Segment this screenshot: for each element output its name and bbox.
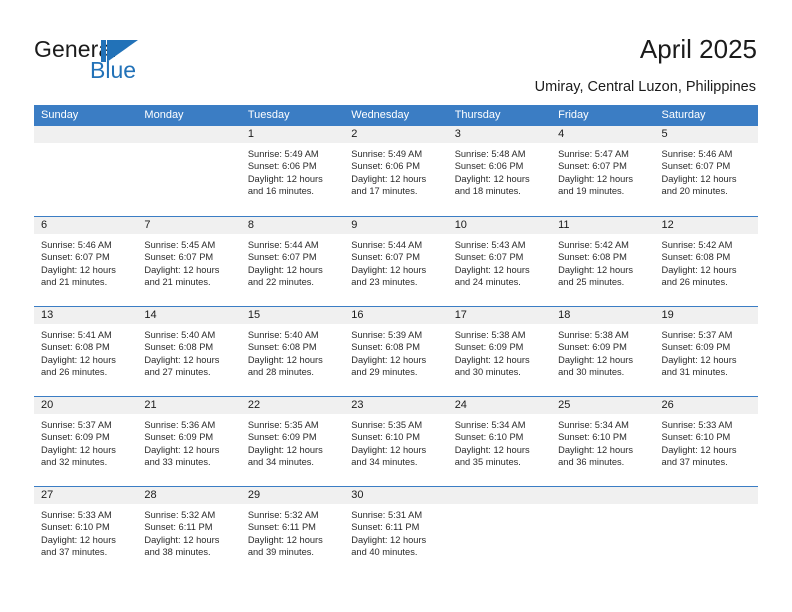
sunrise-text: Sunrise: 5:40 AM xyxy=(144,329,234,341)
calendar-day-cell[interactable]: 4Sunrise: 5:47 AMSunset: 6:07 PMDaylight… xyxy=(551,126,654,216)
calendar-day-cell[interactable]: 8Sunrise: 5:44 AMSunset: 6:07 PMDaylight… xyxy=(241,217,344,306)
daylight-text-line1: Daylight: 12 hours xyxy=(248,444,338,456)
daylight-text-line2: and 21 minutes. xyxy=(41,276,131,288)
sunset-text: Sunset: 6:08 PM xyxy=(248,341,338,353)
day-number: 2 xyxy=(344,126,447,143)
sunset-text: Sunset: 6:11 PM xyxy=(351,521,441,533)
daylight-text-line1: Daylight: 12 hours xyxy=(144,354,234,366)
day-number xyxy=(655,487,758,504)
logo-text-blue: Blue xyxy=(90,57,136,83)
weekday-header-friday: Friday xyxy=(551,105,654,126)
calendar-day-cell[interactable]: 12Sunrise: 5:42 AMSunset: 6:08 PMDayligh… xyxy=(655,217,758,306)
day-number: 12 xyxy=(655,217,758,234)
sunrise-text: Sunrise: 5:39 AM xyxy=(351,329,441,341)
daylight-text-line1: Daylight: 12 hours xyxy=(662,173,752,185)
daylight-text-line1: Daylight: 12 hours xyxy=(351,264,441,276)
calendar-day-cell[interactable]: 23Sunrise: 5:35 AMSunset: 6:10 PMDayligh… xyxy=(344,397,447,486)
calendar-week-row: 13Sunrise: 5:41 AMSunset: 6:08 PMDayligh… xyxy=(34,306,758,396)
calendar-day-cell[interactable]: 13Sunrise: 5:41 AMSunset: 6:08 PMDayligh… xyxy=(34,307,137,396)
sunset-text: Sunset: 6:11 PM xyxy=(144,521,234,533)
day-number: 29 xyxy=(241,487,344,504)
day-sun-info: Sunrise: 5:40 AMSunset: 6:08 PMDaylight:… xyxy=(241,324,344,379)
daylight-text-line2: and 26 minutes. xyxy=(41,366,131,378)
daylight-text-line1: Daylight: 12 hours xyxy=(41,264,131,276)
calendar-day-cell-empty xyxy=(34,126,137,216)
daylight-text-line1: Daylight: 12 hours xyxy=(144,534,234,546)
sunset-text: Sunset: 6:10 PM xyxy=(558,431,648,443)
daylight-text-line2: and 24 minutes. xyxy=(455,276,545,288)
daylight-text-line2: and 21 minutes. xyxy=(144,276,234,288)
calendar-week-row: 1Sunrise: 5:49 AMSunset: 6:06 PMDaylight… xyxy=(34,126,758,216)
day-number: 4 xyxy=(551,126,654,143)
day-sun-info: Sunrise: 5:34 AMSunset: 6:10 PMDaylight:… xyxy=(551,414,654,469)
day-sun-info: Sunrise: 5:32 AMSunset: 6:11 PMDaylight:… xyxy=(241,504,344,559)
sunset-text: Sunset: 6:07 PM xyxy=(351,251,441,263)
day-number: 18 xyxy=(551,307,654,324)
day-sun-info: Sunrise: 5:33 AMSunset: 6:10 PMDaylight:… xyxy=(655,414,758,469)
day-sun-info: Sunrise: 5:34 AMSunset: 6:10 PMDaylight:… xyxy=(448,414,551,469)
sunrise-text: Sunrise: 5:49 AM xyxy=(248,148,338,160)
sunset-text: Sunset: 6:06 PM xyxy=(455,160,545,172)
page-title: April 2025 xyxy=(640,34,757,64)
calendar-day-cell[interactable]: 9Sunrise: 5:44 AMSunset: 6:07 PMDaylight… xyxy=(344,217,447,306)
day-number: 28 xyxy=(137,487,240,504)
sunset-text: Sunset: 6:09 PM xyxy=(144,431,234,443)
daylight-text-line1: Daylight: 12 hours xyxy=(248,264,338,276)
daylight-text-line2: and 33 minutes. xyxy=(144,456,234,468)
day-sun-info: Sunrise: 5:35 AMSunset: 6:09 PMDaylight:… xyxy=(241,414,344,469)
sunrise-text: Sunrise: 5:46 AM xyxy=(41,239,131,251)
calendar-day-cell[interactable]: 10Sunrise: 5:43 AMSunset: 6:07 PMDayligh… xyxy=(448,217,551,306)
calendar-day-cell[interactable]: 2Sunrise: 5:49 AMSunset: 6:06 PMDaylight… xyxy=(344,126,447,216)
calendar-day-cell[interactable]: 22Sunrise: 5:35 AMSunset: 6:09 PMDayligh… xyxy=(241,397,344,486)
sunrise-text: Sunrise: 5:44 AM xyxy=(351,239,441,251)
day-sun-info: Sunrise: 5:38 AMSunset: 6:09 PMDaylight:… xyxy=(551,324,654,379)
day-number xyxy=(34,126,137,143)
calendar-grid: Sunday Monday Tuesday Wednesday Thursday… xyxy=(34,105,758,576)
daylight-text-line1: Daylight: 12 hours xyxy=(558,264,648,276)
day-sun-info: Sunrise: 5:47 AMSunset: 6:07 PMDaylight:… xyxy=(551,143,654,198)
day-sun-info: Sunrise: 5:37 AMSunset: 6:09 PMDaylight:… xyxy=(34,414,137,469)
weekday-header-monday: Monday xyxy=(137,105,240,126)
sunrise-text: Sunrise: 5:49 AM xyxy=(351,148,441,160)
day-number: 16 xyxy=(344,307,447,324)
daylight-text-line2: and 22 minutes. xyxy=(248,276,338,288)
weekday-header-sunday: Sunday xyxy=(34,105,137,126)
day-number: 13 xyxy=(34,307,137,324)
day-sun-info: Sunrise: 5:43 AMSunset: 6:07 PMDaylight:… xyxy=(448,234,551,289)
day-sun-info: Sunrise: 5:42 AMSunset: 6:08 PMDaylight:… xyxy=(655,234,758,289)
weekday-header-saturday: Saturday xyxy=(655,105,758,126)
weekday-header-row: Sunday Monday Tuesday Wednesday Thursday… xyxy=(34,105,758,126)
sunset-text: Sunset: 6:08 PM xyxy=(351,341,441,353)
daylight-text-line2: and 34 minutes. xyxy=(248,456,338,468)
sunset-text: Sunset: 6:06 PM xyxy=(248,160,338,172)
sunset-text: Sunset: 6:09 PM xyxy=(558,341,648,353)
sunrise-text: Sunrise: 5:37 AM xyxy=(41,419,131,431)
day-number: 5 xyxy=(655,126,758,143)
daylight-text-line2: and 37 minutes. xyxy=(662,456,752,468)
daylight-text-line2: and 36 minutes. xyxy=(558,456,648,468)
sunset-text: Sunset: 6:09 PM xyxy=(248,431,338,443)
sunrise-text: Sunrise: 5:41 AM xyxy=(41,329,131,341)
daylight-text-line2: and 23 minutes. xyxy=(351,276,441,288)
day-sun-info: Sunrise: 5:42 AMSunset: 6:08 PMDaylight:… xyxy=(551,234,654,289)
calendar-day-cell[interactable]: 17Sunrise: 5:38 AMSunset: 6:09 PMDayligh… xyxy=(448,307,551,396)
weekday-header-tuesday: Tuesday xyxy=(241,105,344,126)
weekday-header-thursday: Thursday xyxy=(448,105,551,126)
sunrise-text: Sunrise: 5:32 AM xyxy=(248,509,338,521)
sunrise-text: Sunrise: 5:35 AM xyxy=(248,419,338,431)
calendar-day-cell[interactable]: 7Sunrise: 5:45 AMSunset: 6:07 PMDaylight… xyxy=(137,217,240,306)
sunrise-text: Sunrise: 5:42 AM xyxy=(558,239,648,251)
sunrise-text: Sunrise: 5:47 AM xyxy=(558,148,648,160)
calendar-day-cell[interactable]: 25Sunrise: 5:34 AMSunset: 6:10 PMDayligh… xyxy=(551,397,654,486)
calendar-day-cell[interactable]: 20Sunrise: 5:37 AMSunset: 6:09 PMDayligh… xyxy=(34,397,137,486)
sunset-text: Sunset: 6:08 PM xyxy=(558,251,648,263)
sunset-text: Sunset: 6:07 PM xyxy=(662,160,752,172)
sunrise-text: Sunrise: 5:42 AM xyxy=(662,239,752,251)
calendar-day-cell[interactable]: 24Sunrise: 5:34 AMSunset: 6:10 PMDayligh… xyxy=(448,397,551,486)
day-number xyxy=(551,487,654,504)
daylight-text-line1: Daylight: 12 hours xyxy=(248,534,338,546)
daylight-text-line2: and 31 minutes. xyxy=(662,366,752,378)
day-number: 17 xyxy=(448,307,551,324)
day-sun-info: Sunrise: 5:33 AMSunset: 6:10 PMDaylight:… xyxy=(34,504,137,559)
day-number: 27 xyxy=(34,487,137,504)
calendar-week-row: 20Sunrise: 5:37 AMSunset: 6:09 PMDayligh… xyxy=(34,396,758,486)
daylight-text-line1: Daylight: 12 hours xyxy=(248,173,338,185)
sunrise-text: Sunrise: 5:31 AM xyxy=(351,509,441,521)
calendar-day-cell[interactable]: 19Sunrise: 5:37 AMSunset: 6:09 PMDayligh… xyxy=(655,307,758,396)
day-number: 19 xyxy=(655,307,758,324)
daylight-text-line1: Daylight: 12 hours xyxy=(351,354,441,366)
day-sun-info: Sunrise: 5:49 AMSunset: 6:06 PMDaylight:… xyxy=(241,143,344,198)
daylight-text-line2: and 18 minutes. xyxy=(455,185,545,197)
calendar-day-cell-empty xyxy=(655,487,758,576)
day-sun-info: Sunrise: 5:40 AMSunset: 6:08 PMDaylight:… xyxy=(137,324,240,379)
sunrise-text: Sunrise: 5:48 AM xyxy=(455,148,545,160)
sunset-text: Sunset: 6:07 PM xyxy=(41,251,131,263)
daylight-text-line1: Daylight: 12 hours xyxy=(662,444,752,456)
sunset-text: Sunset: 6:11 PM xyxy=(248,521,338,533)
sunrise-text: Sunrise: 5:37 AM xyxy=(662,329,752,341)
sunrise-text: Sunrise: 5:38 AM xyxy=(455,329,545,341)
daylight-text-line2: and 38 minutes. xyxy=(144,546,234,558)
calendar-day-cell[interactable]: 1Sunrise: 5:49 AMSunset: 6:06 PMDaylight… xyxy=(241,126,344,216)
daylight-text-line1: Daylight: 12 hours xyxy=(351,444,441,456)
daylight-text-line1: Daylight: 12 hours xyxy=(41,354,131,366)
daylight-text-line1: Daylight: 12 hours xyxy=(662,354,752,366)
day-sun-info: Sunrise: 5:49 AMSunset: 6:06 PMDaylight:… xyxy=(344,143,447,198)
sunrise-text: Sunrise: 5:32 AM xyxy=(144,509,234,521)
daylight-text-line2: and 30 minutes. xyxy=(455,366,545,378)
daylight-text-line2: and 34 minutes. xyxy=(351,456,441,468)
calendar-day-cell-empty xyxy=(448,487,551,576)
day-number: 21 xyxy=(137,397,240,414)
calendar-day-cell-empty xyxy=(551,487,654,576)
daylight-text-line2: and 25 minutes. xyxy=(558,276,648,288)
calendar-day-cell[interactable]: 21Sunrise: 5:36 AMSunset: 6:09 PMDayligh… xyxy=(137,397,240,486)
daylight-text-line2: and 27 minutes. xyxy=(144,366,234,378)
daylight-text-line1: Daylight: 12 hours xyxy=(41,534,131,546)
sunset-text: Sunset: 6:06 PM xyxy=(351,160,441,172)
day-sun-info: Sunrise: 5:41 AMSunset: 6:08 PMDaylight:… xyxy=(34,324,137,379)
daylight-text-line2: and 17 minutes. xyxy=(351,185,441,197)
sunset-text: Sunset: 6:09 PM xyxy=(41,431,131,443)
day-number xyxy=(448,487,551,504)
sunrise-text: Sunrise: 5:34 AM xyxy=(455,419,545,431)
day-number: 30 xyxy=(344,487,447,504)
day-number: 25 xyxy=(551,397,654,414)
day-number: 22 xyxy=(241,397,344,414)
daylight-text-line2: and 30 minutes. xyxy=(558,366,648,378)
sunset-text: Sunset: 6:08 PM xyxy=(662,251,752,263)
sunset-text: Sunset: 6:10 PM xyxy=(662,431,752,443)
calendar-day-cell-empty xyxy=(137,126,240,216)
daylight-text-line2: and 26 minutes. xyxy=(662,276,752,288)
day-sun-info: Sunrise: 5:38 AMSunset: 6:09 PMDaylight:… xyxy=(448,324,551,379)
sunrise-text: Sunrise: 5:38 AM xyxy=(558,329,648,341)
day-sun-info: Sunrise: 5:32 AMSunset: 6:11 PMDaylight:… xyxy=(137,504,240,559)
sunrise-text: Sunrise: 5:46 AM xyxy=(662,148,752,160)
day-number: 8 xyxy=(241,217,344,234)
calendar-day-cell[interactable]: 14Sunrise: 5:40 AMSunset: 6:08 PMDayligh… xyxy=(137,307,240,396)
day-sun-info: Sunrise: 5:37 AMSunset: 6:09 PMDaylight:… xyxy=(655,324,758,379)
calendar-day-cell[interactable]: 15Sunrise: 5:40 AMSunset: 6:08 PMDayligh… xyxy=(241,307,344,396)
day-number: 6 xyxy=(34,217,137,234)
day-sun-info: Sunrise: 5:45 AMSunset: 6:07 PMDaylight:… xyxy=(137,234,240,289)
sunrise-text: Sunrise: 5:35 AM xyxy=(351,419,441,431)
day-sun-info: Sunrise: 5:35 AMSunset: 6:10 PMDaylight:… xyxy=(344,414,447,469)
daylight-text-line2: and 37 minutes. xyxy=(41,546,131,558)
sunset-text: Sunset: 6:08 PM xyxy=(144,341,234,353)
daylight-text-line2: and 20 minutes. xyxy=(662,185,752,197)
day-number: 11 xyxy=(551,217,654,234)
daylight-text-line2: and 35 minutes. xyxy=(455,456,545,468)
daylight-text-line1: Daylight: 12 hours xyxy=(662,264,752,276)
day-number: 20 xyxy=(34,397,137,414)
masthead: General Blue April 2025 Umiray, Central … xyxy=(0,0,792,100)
calendar-weeks: 1Sunrise: 5:49 AMSunset: 6:06 PMDaylight… xyxy=(34,126,758,576)
calendar-day-cell[interactable]: 16Sunrise: 5:39 AMSunset: 6:08 PMDayligh… xyxy=(344,307,447,396)
sunset-text: Sunset: 6:07 PM xyxy=(144,251,234,263)
sunrise-text: Sunrise: 5:33 AM xyxy=(662,419,752,431)
daylight-text-line2: and 32 minutes. xyxy=(41,456,131,468)
day-number: 9 xyxy=(344,217,447,234)
calendar-day-cell[interactable]: 28Sunrise: 5:32 AMSunset: 6:11 PMDayligh… xyxy=(137,487,240,576)
day-sun-info: Sunrise: 5:36 AMSunset: 6:09 PMDaylight:… xyxy=(137,414,240,469)
calendar-day-cell[interactable]: 5Sunrise: 5:46 AMSunset: 6:07 PMDaylight… xyxy=(655,126,758,216)
daylight-text-line2: and 29 minutes. xyxy=(351,366,441,378)
sunset-text: Sunset: 6:09 PM xyxy=(662,341,752,353)
day-sun-info: Sunrise: 5:44 AMSunset: 6:07 PMDaylight:… xyxy=(344,234,447,289)
daylight-text-line1: Daylight: 12 hours xyxy=(351,534,441,546)
calendar-day-cell[interactable]: 27Sunrise: 5:33 AMSunset: 6:10 PMDayligh… xyxy=(34,487,137,576)
day-number xyxy=(137,126,240,143)
daylight-text-line2: and 39 minutes. xyxy=(248,546,338,558)
day-sun-info: Sunrise: 5:44 AMSunset: 6:07 PMDaylight:… xyxy=(241,234,344,289)
daylight-text-line1: Daylight: 12 hours xyxy=(41,444,131,456)
general-blue-logo[interactable]: General Blue xyxy=(34,36,194,84)
day-sun-info: Sunrise: 5:46 AMSunset: 6:07 PMDaylight:… xyxy=(655,143,758,198)
calendar-day-cell[interactable]: 18Sunrise: 5:38 AMSunset: 6:09 PMDayligh… xyxy=(551,307,654,396)
day-number: 1 xyxy=(241,126,344,143)
sunset-text: Sunset: 6:07 PM xyxy=(455,251,545,263)
daylight-text-line1: Daylight: 12 hours xyxy=(455,173,545,185)
calendar-week-row: 27Sunrise: 5:33 AMSunset: 6:10 PMDayligh… xyxy=(34,486,758,576)
day-sun-info: Sunrise: 5:46 AMSunset: 6:07 PMDaylight:… xyxy=(34,234,137,289)
daylight-text-line1: Daylight: 12 hours xyxy=(248,354,338,366)
calendar-day-cell[interactable]: 11Sunrise: 5:42 AMSunset: 6:08 PMDayligh… xyxy=(551,217,654,306)
calendar-day-cell[interactable]: 3Sunrise: 5:48 AMSunset: 6:06 PMDaylight… xyxy=(448,126,551,216)
sunrise-text: Sunrise: 5:44 AM xyxy=(248,239,338,251)
daylight-text-line1: Daylight: 12 hours xyxy=(455,264,545,276)
sunset-text: Sunset: 6:09 PM xyxy=(455,341,545,353)
sunrise-text: Sunrise: 5:40 AM xyxy=(248,329,338,341)
sunrise-text: Sunrise: 5:33 AM xyxy=(41,509,131,521)
day-number: 10 xyxy=(448,217,551,234)
calendar-day-cell[interactable]: 29Sunrise: 5:32 AMSunset: 6:11 PMDayligh… xyxy=(241,487,344,576)
daylight-text-line1: Daylight: 12 hours xyxy=(455,354,545,366)
calendar-day-cell[interactable]: 6Sunrise: 5:46 AMSunset: 6:07 PMDaylight… xyxy=(34,217,137,306)
day-number: 26 xyxy=(655,397,758,414)
sunset-text: Sunset: 6:07 PM xyxy=(558,160,648,172)
day-number: 14 xyxy=(137,307,240,324)
day-number: 24 xyxy=(448,397,551,414)
weekday-header-wednesday: Wednesday xyxy=(344,105,447,126)
sunset-text: Sunset: 6:10 PM xyxy=(41,521,131,533)
daylight-text-line2: and 28 minutes. xyxy=(248,366,338,378)
sunset-text: Sunset: 6:10 PM xyxy=(351,431,441,443)
daylight-text-line1: Daylight: 12 hours xyxy=(558,173,648,185)
daylight-text-line1: Daylight: 12 hours xyxy=(144,264,234,276)
daylight-text-line1: Daylight: 12 hours xyxy=(455,444,545,456)
daylight-text-line1: Daylight: 12 hours xyxy=(351,173,441,185)
day-number: 7 xyxy=(137,217,240,234)
daylight-text-line1: Daylight: 12 hours xyxy=(558,444,648,456)
calendar-day-cell[interactable]: 30Sunrise: 5:31 AMSunset: 6:11 PMDayligh… xyxy=(344,487,447,576)
daylight-text-line2: and 19 minutes. xyxy=(558,185,648,197)
daylight-text-line2: and 40 minutes. xyxy=(351,546,441,558)
daylight-text-line1: Daylight: 12 hours xyxy=(558,354,648,366)
location-subtitle: Umiray, Central Luzon, Philippines xyxy=(535,78,756,96)
day-sun-info: Sunrise: 5:39 AMSunset: 6:08 PMDaylight:… xyxy=(344,324,447,379)
sunrise-text: Sunrise: 5:45 AM xyxy=(144,239,234,251)
daylight-text-line1: Daylight: 12 hours xyxy=(144,444,234,456)
day-number: 23 xyxy=(344,397,447,414)
sunrise-text: Sunrise: 5:36 AM xyxy=(144,419,234,431)
calendar-page: General Blue April 2025 Umiray, Central … xyxy=(0,0,792,612)
daylight-text-line2: and 16 minutes. xyxy=(248,185,338,197)
sunrise-text: Sunrise: 5:34 AM xyxy=(558,419,648,431)
sunset-text: Sunset: 6:08 PM xyxy=(41,341,131,353)
day-number: 15 xyxy=(241,307,344,324)
sunrise-text: Sunrise: 5:43 AM xyxy=(455,239,545,251)
calendar-day-cell[interactable]: 26Sunrise: 5:33 AMSunset: 6:10 PMDayligh… xyxy=(655,397,758,486)
sunset-text: Sunset: 6:10 PM xyxy=(455,431,545,443)
day-sun-info: Sunrise: 5:31 AMSunset: 6:11 PMDaylight:… xyxy=(344,504,447,559)
sunset-text: Sunset: 6:07 PM xyxy=(248,251,338,263)
calendar-week-row: 6Sunrise: 5:46 AMSunset: 6:07 PMDaylight… xyxy=(34,216,758,306)
day-sun-info: Sunrise: 5:48 AMSunset: 6:06 PMDaylight:… xyxy=(448,143,551,198)
day-number: 3 xyxy=(448,126,551,143)
